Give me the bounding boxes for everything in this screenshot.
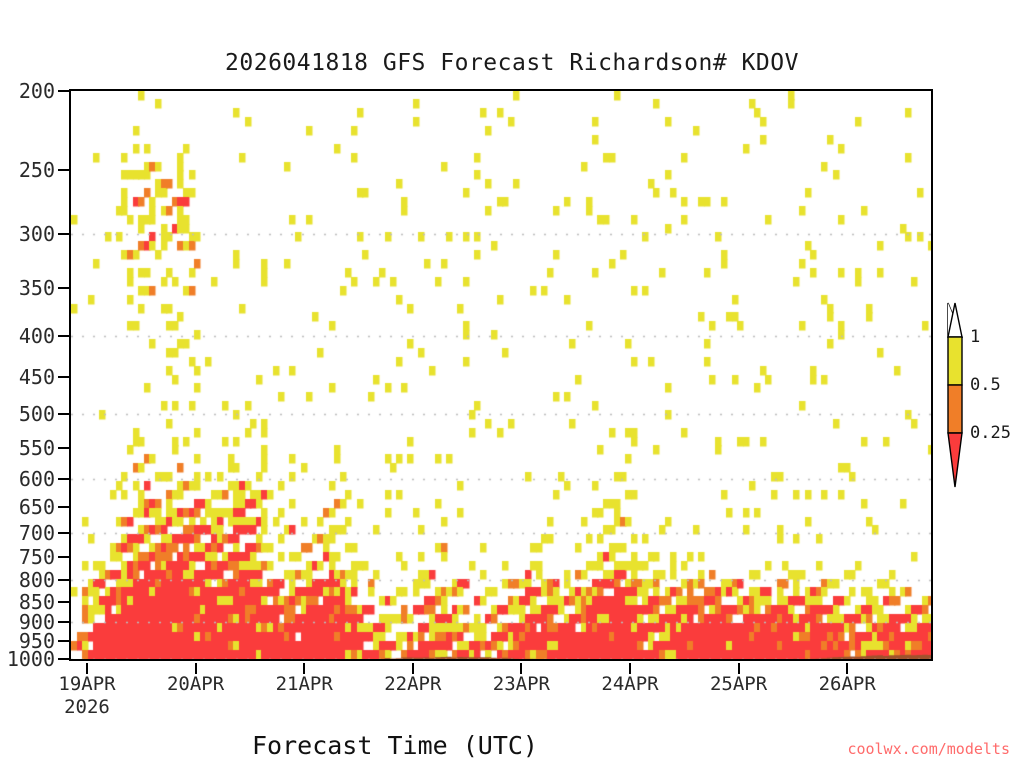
- colorbar-band-yellow: [948, 337, 962, 385]
- watermark-link[interactable]: coolwx.com/modelts: [847, 740, 1010, 758]
- x-tick-label-19APR: 19APR: [58, 673, 115, 695]
- x-axis-title: Forecast Time (UTC): [0, 731, 790, 760]
- y-tick-label-300: 300: [19, 222, 55, 246]
- x-tick-label-25APR: 25APR: [710, 673, 767, 695]
- y-tick: [58, 478, 69, 480]
- y-tick: [58, 413, 69, 415]
- x-tick-label-21APR: 21APR: [276, 673, 333, 695]
- x-tick-label-26APR: 26APR: [819, 673, 876, 695]
- y-tick-label-650: 650: [19, 495, 55, 519]
- y-tick-label-450: 450: [19, 365, 55, 389]
- x-tick-label-23APR: 23APR: [493, 673, 550, 695]
- page-title: 2026041818 GFS Forecast Richardson# KDOV: [0, 50, 1024, 76]
- y-tick: [58, 506, 69, 508]
- y-tick: [58, 233, 69, 235]
- y-tick-label-350: 350: [19, 276, 55, 300]
- y-tick-label-250: 250: [19, 158, 55, 182]
- y-tick: [58, 447, 69, 449]
- plot-area[interactable]: [69, 89, 933, 661]
- y-tick: [58, 287, 69, 289]
- y-tick: [58, 640, 69, 642]
- gridlines: [71, 91, 931, 659]
- colorbar-under-arrow: [948, 433, 962, 487]
- colorbar-svg: [938, 296, 978, 496]
- chart-root: 2026041818 GFS Forecast Richardson# KDOV…: [0, 0, 1024, 768]
- y-tick: [58, 169, 69, 171]
- y-tick: [58, 556, 69, 558]
- y-axis-pressure: 2002503003504004505005506006507007508008…: [0, 89, 69, 661]
- y-tick: [58, 601, 69, 603]
- x-tick-label-20APR: 20APR: [167, 673, 224, 695]
- x-axis-year-label: 2026: [64, 696, 110, 718]
- y-tick-label-550: 550: [19, 436, 55, 460]
- colorbar-legend: 1 0.5 0.25: [938, 296, 978, 496]
- y-tick: [58, 335, 69, 337]
- colorbar-band-orange: [948, 385, 962, 433]
- y-tick-label-700: 700: [19, 521, 55, 545]
- y-tick: [58, 376, 69, 378]
- y-tick-label-500: 500: [19, 402, 55, 426]
- x-tick-label-24APR: 24APR: [601, 673, 658, 695]
- y-tick: [58, 579, 69, 581]
- x-axis-time: 19APR20APR21APR22APR23APR24APR25APR26APR…: [0, 663, 1024, 723]
- y-tick-label-200: 200: [19, 79, 55, 103]
- y-tick: [58, 621, 69, 623]
- y-tick-label-600: 600: [19, 467, 55, 491]
- y-tick-label-400: 400: [19, 324, 55, 348]
- y-tick: [58, 532, 69, 534]
- x-tick-label-22APR: 22APR: [384, 673, 441, 695]
- y-tick: [58, 658, 69, 660]
- colorbar-label-0p25: 0.25: [970, 423, 1011, 443]
- y-tick-label-750: 750: [19, 545, 55, 569]
- y-tick: [58, 90, 69, 92]
- colorbar-label-0p5: 0.5: [970, 375, 1001, 395]
- y-tick-label-800: 800: [19, 568, 55, 592]
- colorbar-label-1: 1: [970, 327, 980, 347]
